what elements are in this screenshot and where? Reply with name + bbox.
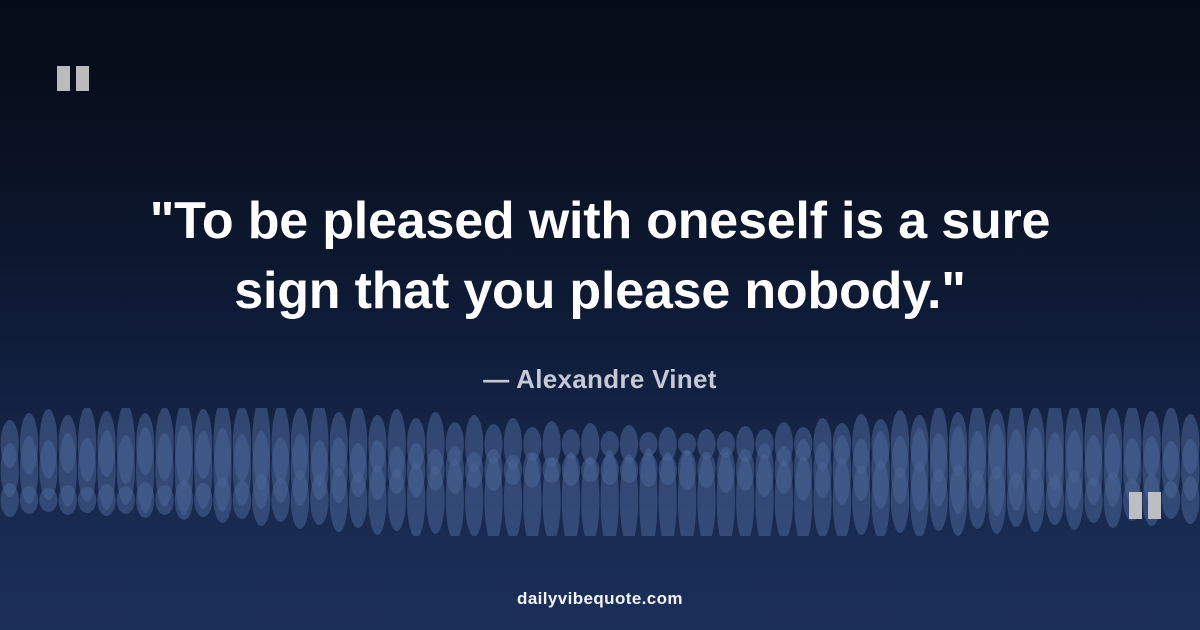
waveform-bar [775,446,793,494]
waveform-bar [930,408,948,482]
waveform-bar [252,474,270,526]
waveform-bar [736,457,754,536]
waveform-bar [20,413,38,475]
waveform-bar [930,469,948,531]
waveform-bar [291,434,309,506]
waveform-bar [504,418,522,470]
waveform-bar [872,419,890,469]
waveform-bar [388,446,406,494]
waveform-bar [543,421,561,467]
waveform-bar [1026,468,1044,532]
waveform-bar [39,440,57,500]
waveform-bar [484,424,502,464]
waveform-bar [1181,439,1199,501]
waveform-bar [794,456,812,536]
footer-site-url: dailyvibequote.com [0,589,1200,609]
waveform-bar [155,408,173,481]
waveform-bar [194,483,212,517]
waveform-bar [581,456,599,536]
waveform-bar [891,410,909,478]
waveform-bar [872,431,890,509]
waveform-bar [717,447,735,493]
waveform-bar [484,456,502,536]
waveform-bar [175,480,193,520]
waveform-bar [1065,430,1083,510]
waveform-bar [1181,476,1199,524]
waveform-bar [252,431,270,509]
waveform-bar [1,443,19,497]
waveform-bar [136,413,154,475]
waveform-bar [330,437,348,503]
waveform-bar [717,452,735,536]
waveform-row-bottom [1,448,1200,536]
waveform-bar [368,465,386,535]
waveform-bar [910,415,928,473]
waveform-bar [213,408,231,488]
waveform-bar [1104,408,1122,480]
waveform-bar [639,432,657,456]
waveform-bar [310,440,328,500]
waveform-bar [543,457,561,483]
waveform-bar [20,486,38,514]
waveform-bar [213,428,231,512]
waveform-bar [891,436,909,504]
waveform-bar [1084,477,1102,523]
waveform-row-top [1,408,1200,490]
waveform-bar [1084,408,1102,487]
waveform-bar [852,439,870,501]
waveform-bar [97,484,115,516]
quote-attribution: — Alexandre Vinet [0,364,1200,395]
waveform-bar [949,412,967,476]
waveform-bar [988,409,1006,479]
waveform-bar [659,427,677,461]
waveform-bar [465,463,483,536]
waveform-bar [581,458,599,482]
waveform-bar [330,468,348,532]
waveform-bar [310,408,328,487]
waveform-bar [310,475,328,525]
waveform-bar [78,408,96,482]
waveform-bar [1,420,19,468]
waveform-bar [175,425,193,515]
waveform-bar [213,477,231,523]
waveform-bar [39,409,57,479]
waveform-bar [1026,408,1044,481]
waveform-bar [755,454,773,536]
waveform-bar [910,462,928,536]
waveform-bar [523,454,541,536]
waveform-bar [504,460,522,536]
waveform-bar [833,423,851,465]
waveform-bar [1026,427,1044,513]
quote-mark-bar-left [1129,492,1142,519]
waveform-bar [136,427,154,513]
waveform-bar [1084,435,1102,505]
waveform-bar [446,459,464,536]
waveform-bar [349,408,367,483]
waveform-bar [678,433,696,455]
waveform-bar [117,435,135,505]
waveform-bar [988,466,1006,534]
waveform-bar [155,485,173,515]
waveform-bar [78,487,96,513]
waveform-bar [639,453,657,487]
waveform-bar [407,418,425,470]
quote-mark-bar-right [1148,492,1161,519]
waveform-bar [1065,470,1083,530]
quote-mark-bar-left [57,66,70,91]
waveform-bar [252,408,270,490]
waveform-bar [20,436,38,504]
waveform-bar [446,422,464,466]
waveform-bar [1104,472,1122,528]
waveform-bar [775,460,793,536]
waveform-bar [639,448,657,536]
waveform-bar [1065,408,1083,483]
waveform-bar [504,455,522,485]
waveform-bar [968,408,986,485]
waveform-bar [233,434,251,506]
waveform-bar [426,449,444,491]
waveform-bar [988,424,1006,516]
waveform-bar [794,439,812,501]
waveform-bar [775,422,793,466]
quote-mark-bar-right [76,66,89,91]
waveform-bar [1007,473,1025,527]
waveform-bar [155,433,173,507]
waveform-bar [601,455,619,485]
waveform-bar [697,429,715,459]
waveform-bar [1104,433,1122,507]
waveform-bar [1046,432,1064,508]
waveform-bar [581,423,599,465]
waveform-bar [426,412,444,476]
waveform-bar [968,431,986,509]
waveform-bar [194,409,212,479]
waveform-bar [39,488,57,512]
waveform-bar [813,442,831,498]
waveform-bar [1,483,19,517]
waveform-bar [697,452,715,488]
waveform-bar [59,433,77,507]
waveform-bar [1007,429,1025,511]
waveform-bar [659,455,677,485]
waveform-bar [678,450,696,536]
quote-block: "To be pleased with oneself is a sure si… [0,186,1200,326]
waveform-bar [117,486,135,514]
waveform-bar [407,462,425,536]
waveform-bar [272,408,290,484]
waveform-bar [59,415,77,473]
waveform-row-middle [1,424,1200,516]
waveform-bar [349,472,367,528]
waveform-bar [78,438,96,502]
audio-waveform-decoration [0,408,1200,536]
waveform-bar [543,458,561,536]
waveform-bar [426,466,444,534]
waveform-bar [852,414,870,474]
waveform-bar [388,409,406,479]
waveform-svg [0,408,1200,536]
waveform-bar [562,429,580,459]
waveform-bar [949,464,967,536]
waveform-bar [1046,408,1064,490]
waveform-bar [968,471,986,529]
waveform-bar [930,433,948,507]
waveform-bar [349,443,367,497]
waveform-bar [736,426,754,462]
waveform-bar [1007,408,1025,488]
waveform-bar [620,457,638,483]
waveform-bar [59,485,77,515]
waveform-bar [523,427,541,461]
quote-mark-icon-top-left [57,66,89,91]
waveform-bar [678,450,696,490]
quote-card: "To be pleased with oneself is a sure si… [0,0,1200,630]
quote-mark-icon-bottom-right [1129,492,1161,519]
waveform-bar [601,431,619,457]
waveform-bar [562,454,580,486]
waveform-bar [813,462,831,536]
waveform-bar [523,452,541,488]
waveform-bar [291,408,309,480]
waveform-bar [97,430,115,510]
waveform-bar [388,469,406,531]
waveform-bar [368,440,386,500]
waveform-bar [446,446,464,494]
waveform-bar [1162,481,1180,519]
waveform-bar [368,415,386,473]
waveform-bar [1143,411,1161,477]
waveform-bar [117,408,135,484]
waveform-bar [833,435,851,505]
waveform-bar [910,428,928,512]
waveform-bar [852,465,870,535]
waveform-bar [1181,414,1199,474]
waveform-bar [291,471,309,529]
waveform-bar [620,454,638,536]
waveform-bar [233,481,251,519]
waveform-bar [175,408,193,486]
waveform-bar [620,425,638,463]
waveform-bar [136,482,154,518]
waveform-bar [794,427,812,461]
waveform-bar [736,449,754,491]
waveform-bar [562,452,580,536]
waveform-bar [833,458,851,536]
waveform-bar [717,431,735,457]
waveform-bar [755,429,773,459]
waveform-bar [465,415,483,473]
waveform-bar [659,452,677,536]
waveform-bar [1046,475,1064,525]
waveform-bar [949,426,967,514]
quote-text: "To be pleased with oneself is a sure si… [60,186,1140,326]
waveform-bar [194,431,212,509]
waveform-bar [872,460,890,536]
waveform-bar [755,443,773,497]
waveform-bar [97,411,115,477]
waveform-bar [1162,441,1180,499]
waveform-bar [272,478,290,522]
waveform-bar [1162,408,1180,481]
waveform-bar [330,412,348,476]
waveform-bar [272,437,290,503]
waveform-bar [1123,408,1141,484]
waveform-bar [601,450,619,536]
waveform-bar [484,449,502,491]
waveform-bar [697,455,715,536]
waveform-bar [233,408,251,482]
waveform-bar [465,452,483,488]
waveform-bar [407,443,425,497]
waveform-bar [891,467,909,533]
waveform-bar [813,418,831,470]
